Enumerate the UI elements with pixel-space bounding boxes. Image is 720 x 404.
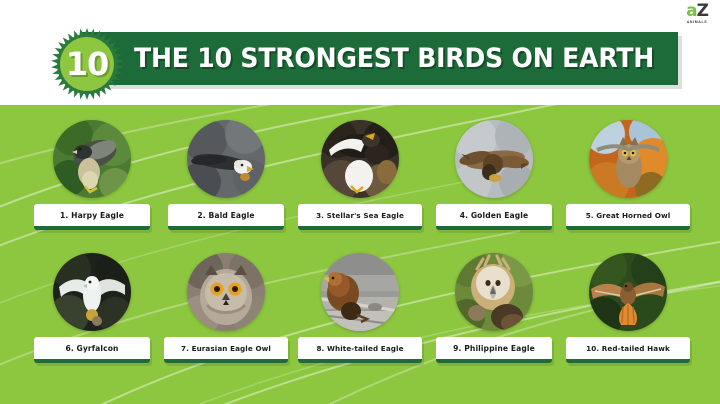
eurasian-eagle-owl-photo <box>187 253 265 331</box>
harpy-eagle-photo <box>53 120 131 198</box>
bird-item-3[interactable]: 3. Stellar's Sea Eagle <box>302 118 418 251</box>
infographic-page: aZ ANIMALS THE 10 STRONGEST BIRDS ON EAR… <box>0 0 720 404</box>
bird-label-2: 2. Bald Eagle <box>197 211 254 220</box>
bird-row-2: 6. Gyrfalcon <box>0 251 720 384</box>
bird-item-8[interactable]: 8. White-tailed Eagle <box>302 251 418 384</box>
bird-label-card-8[interactable]: 8. White-tailed Eagle <box>298 337 422 363</box>
header-area: aZ ANIMALS THE 10 STRONGEST BIRDS ON EAR… <box>0 0 720 105</box>
bird-label-1: 1. Harpy Eagle <box>60 211 124 220</box>
bald-eagle-photo <box>187 120 265 198</box>
rank-badge-number: 10 <box>50 27 124 101</box>
page-title: THE 10 STRONGEST BIRDS ON EARTH <box>134 32 632 85</box>
bird-label-card-6[interactable]: 6. Gyrfalcon <box>34 337 150 363</box>
bird-label-card-9[interactable]: 9. Philippine Eagle <box>436 337 552 363</box>
stellars-sea-eagle-photo <box>321 120 399 198</box>
bird-label-card-10[interactable]: 10. Red-tailed Hawk <box>566 337 690 363</box>
content-area: 1. Harpy Eagle <box>0 105 720 404</box>
bird-label-6: 6. Gyrfalcon <box>65 344 118 353</box>
bird-label-card-4[interactable]: 4. Golden Eagle <box>436 204 552 230</box>
rank-badge: 10 <box>50 27 124 101</box>
bird-label-9: 9. Philippine Eagle <box>453 344 535 353</box>
bird-label-card-3[interactable]: 3. Stellar's Sea Eagle <box>298 204 422 230</box>
bird-label-7: 7. Eurasian Eagle Owl <box>181 344 271 353</box>
bird-item-5[interactable]: 5. Great Horned Owl <box>570 118 686 251</box>
bird-item-9[interactable]: 9. Philippine Eagle <box>436 251 552 384</box>
bird-label-8: 8. White-tailed Eagle <box>316 344 403 353</box>
bird-label-card-5[interactable]: 5. Great Horned Owl <box>566 204 690 230</box>
title-banner: THE 10 STRONGEST BIRDS ON EARTH <box>82 32 678 85</box>
bird-row-1: 1. Harpy Eagle <box>0 118 720 251</box>
logo-letter-a: a <box>686 1 696 21</box>
golden-eagle-photo <box>455 120 533 198</box>
bird-item-10[interactable]: 10. Red-tailed Hawk <box>570 251 686 384</box>
logo-subtitle: ANIMALS <box>682 21 712 25</box>
az-animals-logo[interactable]: aZ ANIMALS <box>682 3 712 27</box>
bird-item-6[interactable]: 6. Gyrfalcon <box>34 251 150 384</box>
bird-item-1[interactable]: 1. Harpy Eagle <box>34 118 150 251</box>
bird-label-10: 10. Red-tailed Hawk <box>586 344 670 353</box>
white-tailed-eagle-photo <box>321 253 399 331</box>
great-horned-owl-photo <box>589 120 667 198</box>
logo-wordmark: aZ <box>682 3 712 20</box>
bird-label-5: 5. Great Horned Owl <box>586 211 671 220</box>
bird-label-card-2[interactable]: 2. Bald Eagle <box>168 204 284 230</box>
bird-label-3: 3. Stellar's Sea Eagle <box>316 211 404 220</box>
bird-label-card-1[interactable]: 1. Harpy Eagle <box>34 204 150 230</box>
red-tailed-hawk-photo <box>589 253 667 331</box>
bird-label-card-7[interactable]: 7. Eurasian Eagle Owl <box>164 337 288 363</box>
bird-item-2[interactable]: 2. Bald Eagle <box>168 118 284 251</box>
bird-item-4[interactable]: 4. Golden Eagle <box>436 118 552 251</box>
bird-item-7[interactable]: 7. Eurasian Eagle Owl <box>168 251 284 384</box>
logo-letter-z: Z <box>697 1 708 21</box>
gyrfalcon-photo <box>53 253 131 331</box>
philippine-eagle-photo <box>455 253 533 331</box>
bird-label-4: 4. Golden Eagle <box>460 211 529 220</box>
